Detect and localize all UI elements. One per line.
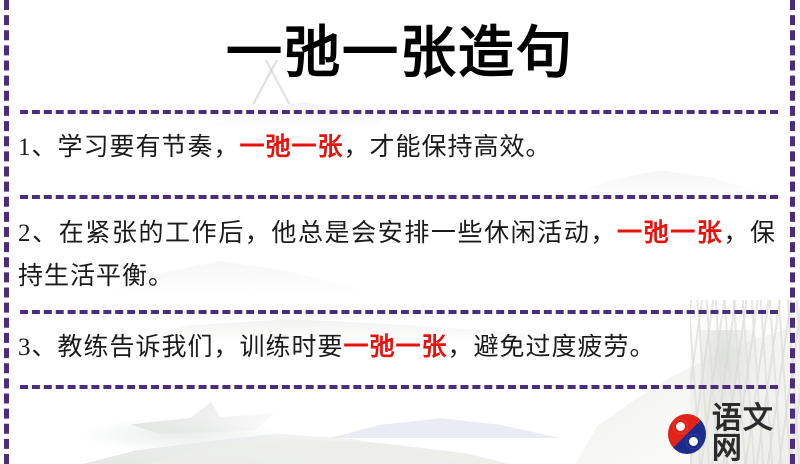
sentence-2-index: 2、 (18, 220, 59, 247)
separator-2 (20, 195, 778, 199)
watermark-hill-left (60, 400, 480, 464)
sentence-3-text-after: ，避免过度疲劳。 (448, 334, 656, 361)
separator-3 (20, 310, 778, 314)
sentence-1-highlight: 一弛一张 (240, 134, 344, 161)
border-left-dashed (4, 0, 9, 464)
site-logo: 语文网 (668, 404, 800, 464)
sentence-1-text-after: ，才能保持高效。 (344, 134, 552, 161)
sentence-3-text-before: 教练告诉我们，训练时要 (58, 334, 344, 361)
watermark-boat (130, 398, 275, 436)
sentence-item-2: 2、在紧张的工作后，他总是会安排一些休闲活动，一弛一张，保持生活平衡。 (18, 212, 776, 298)
sentence-1-index: 1、 (18, 134, 58, 161)
sentence-2-highlight: 一弛一张 (617, 220, 723, 247)
separator-1 (20, 110, 778, 114)
watermark-mist (80, 418, 280, 452)
sentence-3-highlight: 一弛一张 (344, 334, 448, 361)
sentence-item-1: 1、学习要有节奏，一弛一张，才能保持高效。 (18, 126, 776, 169)
yinyang-circle-icon (668, 414, 706, 454)
sentence-2-text-before: 在紧张的工作后，他总是会安排一些休闲活动， (59, 220, 617, 247)
sentence-item-3: 3、教练告诉我们，训练时要一弛一张，避免过度疲劳。 (18, 326, 776, 369)
worksheet-page: 一弛一张造句 1、学习要有节奏，一弛一张，才能保持高效。 2、在紧张的工作后，他… (0, 0, 800, 464)
sentence-3-index: 3、 (18, 334, 58, 361)
watermark-hill-far (330, 408, 560, 438)
yinyang-swirl (677, 423, 699, 445)
watermark-hill-center (150, 420, 510, 464)
separator-4 (20, 385, 778, 389)
sentence-1-text-before: 学习要有节奏， (58, 134, 240, 161)
site-logo-text: 语文网 (712, 404, 800, 464)
page-title: 一弛一张造句 (0, 16, 800, 92)
border-right-dashed (790, 0, 795, 464)
